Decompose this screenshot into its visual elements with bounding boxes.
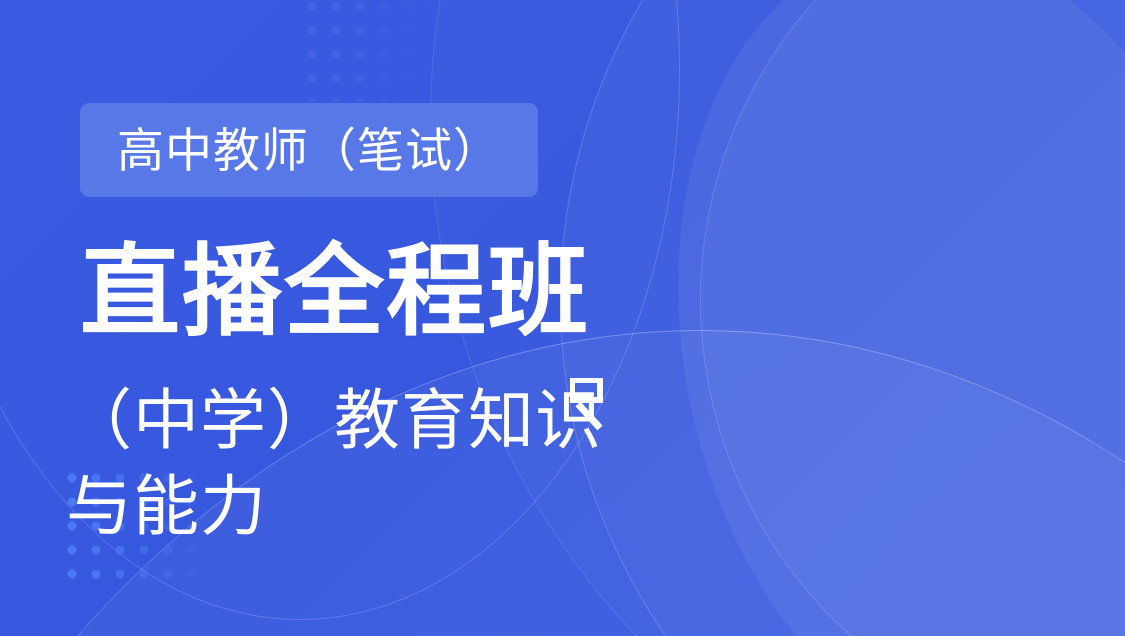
bracket-mark-icon	[570, 378, 610, 436]
banner-headline: 直播全程班	[80, 240, 590, 345]
category-badge: 高中教师（笔试）	[80, 103, 538, 197]
category-badge-label: 高中教师（笔试）	[117, 127, 501, 174]
course-banner: 高中教师（笔试） 直播全程班 （中学）教育知识 与能力	[0, 0, 1125, 636]
banner-subtitle: （中学）教育知识 与能力	[66, 378, 602, 550]
banner-subtitle-line-1: （中学）教育知识	[66, 378, 602, 464]
banner-content: 高中教师（笔试） 直播全程班 （中学）教育知识 与能力	[0, 0, 1125, 636]
banner-subtitle-line-2: 与能力	[66, 464, 602, 550]
